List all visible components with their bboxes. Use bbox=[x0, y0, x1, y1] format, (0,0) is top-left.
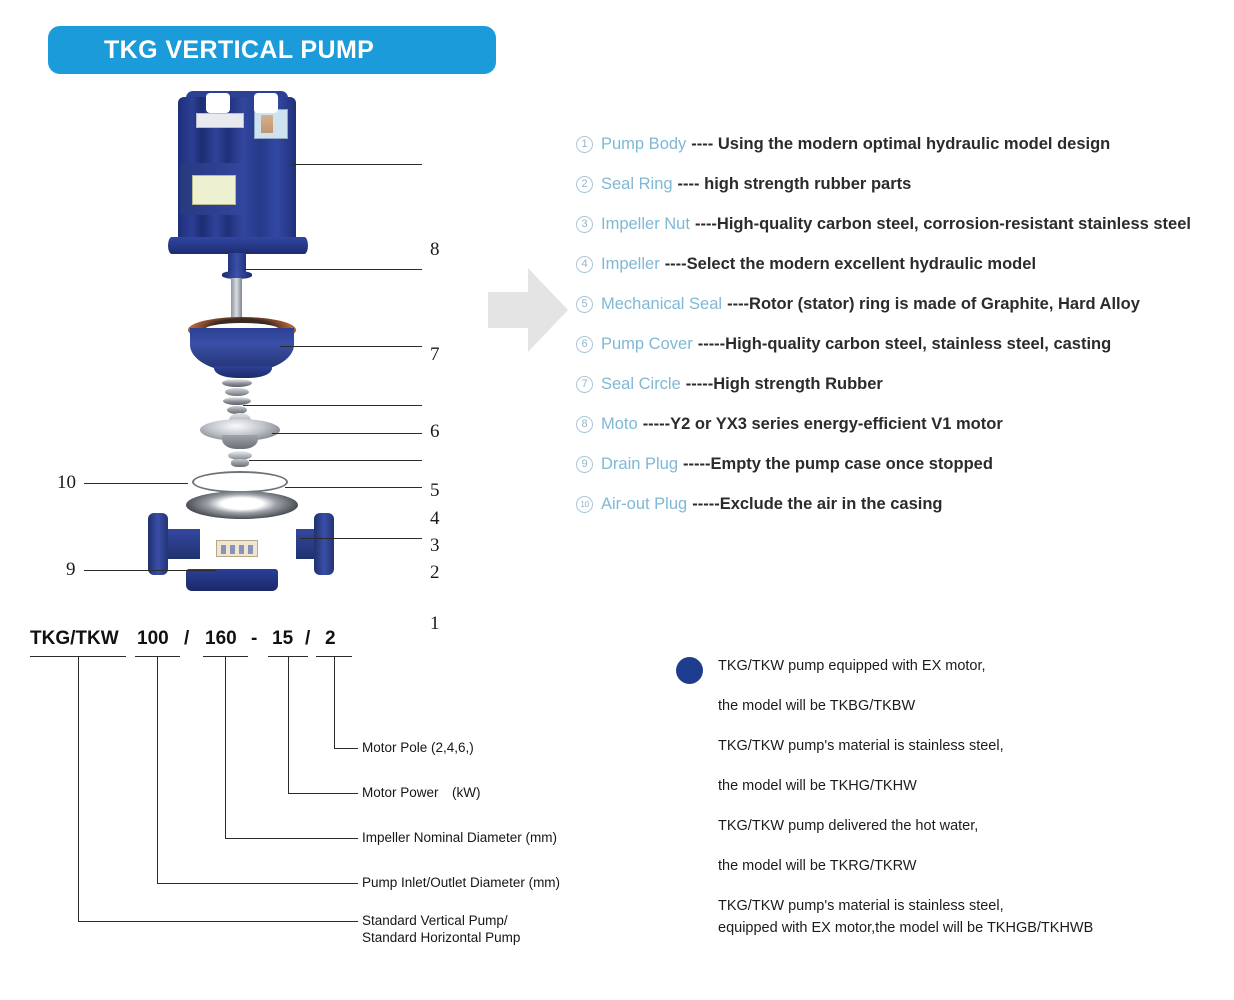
legend-number-icon: 5 bbox=[576, 296, 593, 313]
leader-line-5 bbox=[243, 405, 422, 406]
leader-line-4 bbox=[272, 433, 422, 434]
legend-number-icon: 4 bbox=[576, 256, 593, 273]
note-line-5: TKG/TKW pump delivered the hot water, bbox=[718, 818, 978, 834]
legend-part-name: Seal Ring bbox=[601, 175, 673, 194]
legend-number-icon: 7 bbox=[576, 376, 593, 393]
legend-part-desc: -----High-quality carbon steel, stainles… bbox=[698, 335, 1112, 354]
legend-item-2: 2 Seal Ring ---- high strength rubber pa… bbox=[576, 164, 1226, 204]
seal-ring-3 bbox=[223, 397, 251, 405]
code-token-impeller: 160 bbox=[205, 628, 237, 650]
pump-body-tag bbox=[216, 540, 258, 557]
note-line-7: TKG/TKW pump's material is stainless ste… bbox=[718, 898, 1004, 914]
impeller-nut-washer bbox=[231, 459, 249, 467]
legend-part-desc: ---- high strength rubber parts bbox=[678, 175, 912, 194]
legend-number-icon: 3 bbox=[576, 216, 593, 233]
flow-arrow-shape bbox=[488, 268, 568, 352]
motor-shaft-base bbox=[228, 253, 246, 273]
callout-impeller-dia: Impeller Nominal Diameter (mm) bbox=[362, 829, 557, 846]
callout-standard-vertical: Standard Vertical Pump/ bbox=[362, 912, 508, 929]
drop-line-impeller bbox=[225, 656, 226, 838]
callout-number-5: 5 bbox=[430, 480, 440, 502]
leader-line-8 bbox=[292, 164, 422, 165]
pump-cover-foot bbox=[214, 366, 272, 378]
legend-part-desc: ----High-quality carbon steel, corrosion… bbox=[695, 215, 1191, 234]
code-token-pole: 2 bbox=[325, 628, 336, 650]
leader-line-7 bbox=[244, 269, 422, 270]
model-nomenclature: TKG/TKW 100 / 160 - 15 / 2 Motor Pole (2… bbox=[0, 628, 620, 968]
pump-inlet-flange bbox=[148, 513, 168, 575]
code-token-series: TKG/TKW bbox=[30, 628, 119, 650]
legend-number-icon: 9 bbox=[576, 456, 593, 473]
legend-part-desc: -----Y2 or YX3 series energy-efficient V… bbox=[643, 415, 1003, 434]
note-line-2: the model will be TKBG/TKBW bbox=[718, 698, 915, 714]
callout-number-10: 10 bbox=[57, 472, 76, 494]
bullet-icon bbox=[676, 657, 703, 684]
motor-label bbox=[196, 113, 244, 128]
parts-legend: 1 Pump Body ---- Using the modern optima… bbox=[576, 124, 1226, 524]
callout-standard-horizontal: Standard Horizontal Pump bbox=[362, 929, 520, 946]
legend-number-icon: 8 bbox=[576, 416, 593, 433]
pump-cover-window-left bbox=[206, 93, 230, 113]
drop-line-inlet bbox=[157, 656, 158, 883]
legend-part-name: Impeller Nut bbox=[601, 215, 690, 234]
exploded-pump-diagram: 8 7 6 5 4 3 2 1 10 9 bbox=[0, 85, 500, 615]
elbow-line-power bbox=[288, 793, 358, 794]
leader-line-9 bbox=[84, 570, 216, 571]
callout-number-2: 2 bbox=[430, 562, 440, 584]
motor-mounting-flange bbox=[168, 237, 308, 254]
legend-number-icon: 1 bbox=[576, 136, 593, 153]
drop-line-series bbox=[78, 656, 79, 921]
mechanical-seal bbox=[222, 379, 252, 415]
note-line-1: TKG/TKW pump equipped with EX motor, bbox=[718, 658, 986, 674]
page-title: TKG VERTICAL PUMP bbox=[48, 36, 374, 65]
seal-ring-oring bbox=[192, 471, 288, 493]
flow-arrow bbox=[488, 262, 568, 358]
pump-body-base bbox=[186, 569, 278, 591]
legend-part-name: Pump Body bbox=[601, 135, 686, 154]
legend-item-4: 4 Impeller ----Select the modern excelle… bbox=[576, 244, 1226, 284]
note-line-4: the model will be TKHG/TKHW bbox=[718, 778, 917, 794]
leader-line-3 bbox=[249, 460, 422, 461]
legend-item-7: 7 Seal Circle -----High strength Rubber bbox=[576, 364, 1226, 404]
legend-part-name: Impeller bbox=[601, 255, 660, 274]
legend-item-10: 10 Air-out Plug -----Exclude the air in … bbox=[576, 484, 1226, 524]
drop-line-power bbox=[288, 656, 289, 793]
seal-ring-1 bbox=[222, 379, 252, 387]
legend-part-name: Drain Plug bbox=[601, 455, 678, 474]
leader-line-6 bbox=[280, 346, 422, 347]
motor-sticker bbox=[254, 109, 288, 139]
legend-item-3: 3 Impeller Nut ----High-quality carbon s… bbox=[576, 204, 1226, 244]
code-token-inlet: 100 bbox=[137, 628, 169, 650]
pump-body-casing bbox=[170, 503, 320, 575]
callout-number-7: 7 bbox=[430, 344, 440, 366]
legend-number-icon: 6 bbox=[576, 336, 593, 353]
drop-line-pole bbox=[334, 656, 335, 748]
elbow-line-impeller bbox=[225, 838, 358, 839]
callout-number-9: 9 bbox=[66, 559, 76, 581]
legend-number-icon: 10 bbox=[576, 496, 593, 513]
legend-item-1: 1 Pump Body ---- Using the modern optima… bbox=[576, 124, 1226, 164]
note-line-6: the model will be TKRG/TKRW bbox=[718, 858, 917, 874]
legend-part-name: Moto bbox=[601, 415, 638, 434]
code-separator-3: / bbox=[305, 628, 310, 650]
impeller-skirt bbox=[222, 435, 258, 449]
leader-line-2 bbox=[285, 487, 422, 488]
callout-number-8: 8 bbox=[430, 239, 440, 261]
legend-part-name: Mechanical Seal bbox=[601, 295, 722, 314]
callout-motor-power: Motor Power (kW) bbox=[362, 784, 481, 801]
legend-part-name: Seal Circle bbox=[601, 375, 681, 394]
legend-part-name: Air-out Plug bbox=[601, 495, 687, 514]
legend-part-name: Pump Cover bbox=[601, 335, 693, 354]
note-line-3: TKG/TKW pump's material is stainless ste… bbox=[718, 738, 1004, 754]
title-banner: TKG VERTICAL PUMP bbox=[48, 26, 496, 74]
note-line-8: equipped with EX motor,the model will be… bbox=[718, 920, 1093, 936]
leader-line-10 bbox=[84, 483, 188, 484]
elbow-line-inlet bbox=[157, 883, 358, 884]
motor-nameplate bbox=[192, 175, 236, 205]
code-separator-1: / bbox=[184, 628, 189, 650]
elbow-line-series bbox=[78, 921, 358, 922]
legend-part-desc: ----Select the modern excellent hydrauli… bbox=[665, 255, 1036, 274]
elbow-line-pole bbox=[334, 748, 358, 749]
seal-ring-2 bbox=[225, 388, 249, 396]
callout-number-4: 4 bbox=[430, 508, 440, 530]
callout-number-3: 3 bbox=[430, 535, 440, 557]
legend-item-8: 8 Moto -----Y2 or YX3 series energy-effi… bbox=[576, 404, 1226, 444]
legend-part-desc: ----Rotor (stator) ring is made of Graph… bbox=[727, 295, 1140, 314]
legend-part-desc: ---- Using the modern optimal hydraulic … bbox=[691, 135, 1110, 154]
code-separator-2: - bbox=[251, 628, 257, 650]
callout-motor-pole: Motor Pole (2,4,6,) bbox=[362, 739, 474, 756]
legend-part-desc: -----High strength Rubber bbox=[686, 375, 883, 394]
legend-part-desc: -----Empty the pump case once stopped bbox=[683, 455, 993, 474]
code-token-power: 15 bbox=[272, 628, 293, 650]
pump-cover-window-right bbox=[254, 93, 278, 113]
legend-item-5: 5 Mechanical Seal ----Rotor (stator) rin… bbox=[576, 284, 1226, 324]
callout-inlet-outlet-dia: Pump Inlet/Outlet Diameter (mm) bbox=[362, 874, 560, 891]
pump-outlet-flange bbox=[314, 513, 334, 575]
legend-item-9: 9 Drain Plug -----Empty the pump case on… bbox=[576, 444, 1226, 484]
legend-number-icon: 2 bbox=[576, 176, 593, 193]
callout-number-6: 6 bbox=[430, 421, 440, 443]
legend-item-6: 6 Pump Cover -----High-quality carbon st… bbox=[576, 324, 1226, 364]
legend-part-desc: -----Exclude the air in the casing bbox=[692, 495, 942, 514]
leader-line-1 bbox=[300, 538, 422, 539]
